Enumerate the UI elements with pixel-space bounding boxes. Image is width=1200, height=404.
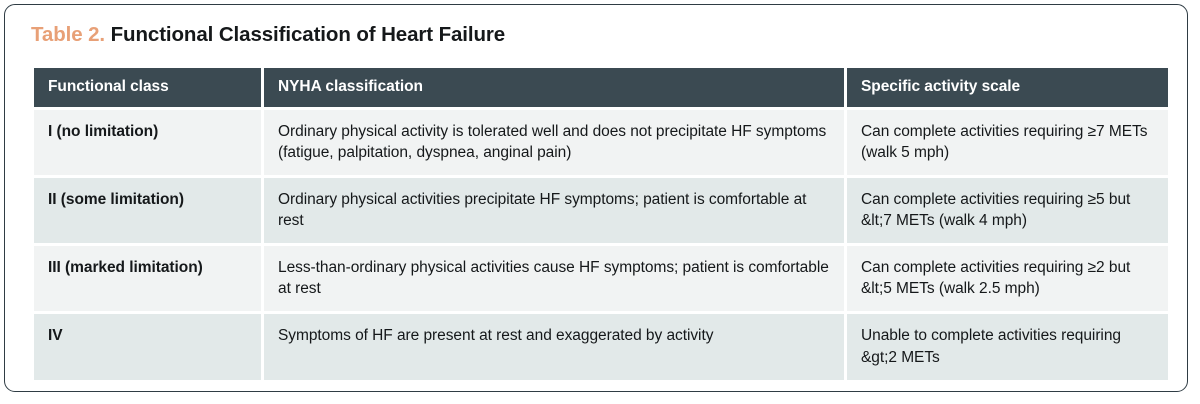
- cell-specific-activity-scale: Can complete activities requiring ≥5 but…: [847, 178, 1168, 243]
- table-title-text: Functional Classification of Heart Failu…: [111, 23, 505, 46]
- table-row: IV Symptoms of HF are present at rest an…: [34, 314, 1168, 379]
- cell-functional-class: III (marked limitation): [34, 246, 261, 311]
- cell-specific-activity-scale: Can complete activities requiring ≥2 but…: [847, 246, 1168, 311]
- table-row: I (no limitation) Ordinary physical acti…: [34, 110, 1168, 175]
- column-header-specific-activity-scale: Specific activity scale: [847, 68, 1168, 107]
- column-header-nyha-classification: NYHA classification: [264, 68, 844, 107]
- cell-nyha-classification: Less-than-ordinary physical activities c…: [264, 246, 844, 311]
- cell-nyha-classification: Ordinary physical activity is tolerated …: [264, 110, 844, 175]
- table-header: Functional class NYHA classification Spe…: [34, 68, 1168, 107]
- functional-classification-table: Functional class NYHA classification Spe…: [31, 65, 1171, 383]
- cell-specific-activity-scale: Unable to complete activities requiring …: [847, 314, 1168, 379]
- page-title: Table 2. Functional Classification of He…: [31, 23, 505, 47]
- table-row: III (marked limitation) Less-than-ordina…: [34, 246, 1168, 311]
- table-number-label: Table 2.: [31, 23, 105, 46]
- table-body: I (no limitation) Ordinary physical acti…: [34, 110, 1168, 380]
- table-card: Table 2. Functional Classification of He…: [4, 4, 1188, 392]
- column-header-functional-class: Functional class: [34, 68, 261, 107]
- cell-nyha-classification: Symptoms of HF are present at rest and e…: [264, 314, 844, 379]
- cell-specific-activity-scale: Can complete activities requiring ≥7 MET…: [847, 110, 1168, 175]
- cell-functional-class: IV: [34, 314, 261, 379]
- table-row: II (some limitation) Ordinary physical a…: [34, 178, 1168, 243]
- table-header-row: Functional class NYHA classification Spe…: [34, 68, 1168, 107]
- cell-nyha-classification: Ordinary physical activities precipitate…: [264, 178, 844, 243]
- cell-functional-class: I (no limitation): [34, 110, 261, 175]
- cell-functional-class: II (some limitation): [34, 178, 261, 243]
